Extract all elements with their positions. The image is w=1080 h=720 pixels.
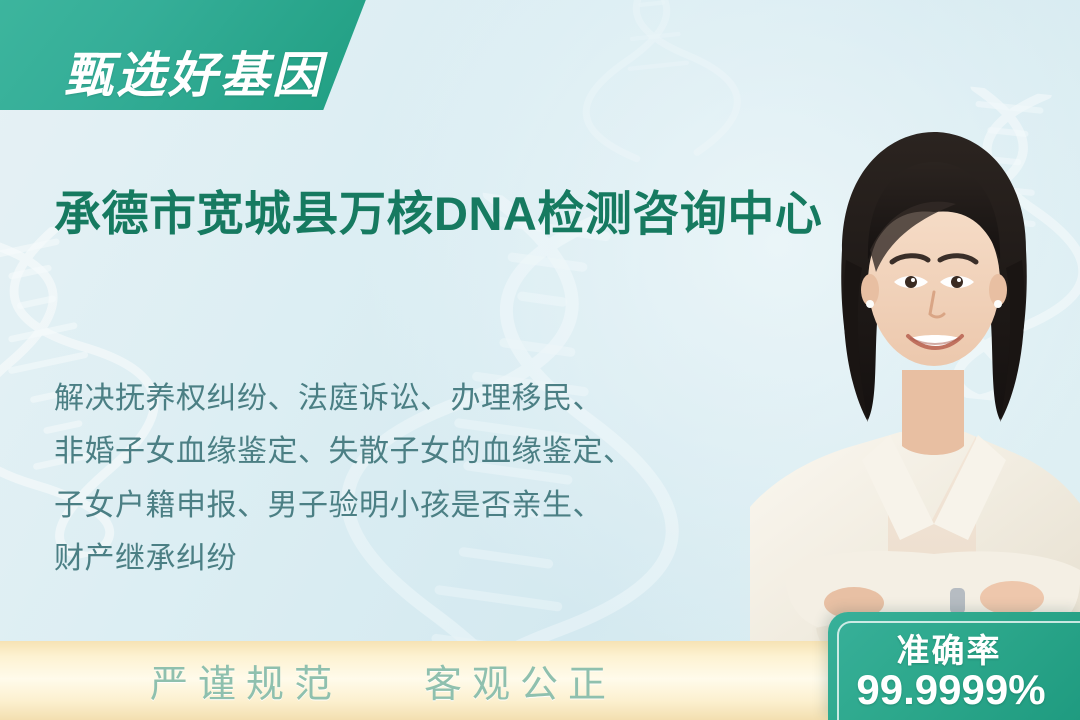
accuracy-badge-value: 99.9999%: [828, 666, 1074, 714]
accuracy-badge: 准确率 99.9999%: [828, 612, 1080, 720]
service-description: 解决抚养权纠纷、法庭诉讼、办理移民、 非婚子女血缘鉴定、失散子女的血缘鉴定、 子…: [54, 372, 754, 586]
slogan-item-1: 严谨规范: [150, 653, 342, 708]
accuracy-badge-label: 准确率: [828, 624, 1070, 672]
service-description-line: 子女户籍申报、男子验明小孩是否亲生、: [54, 479, 754, 532]
service-description-line: 非婚子女血缘鉴定、失散子女的血缘鉴定、: [54, 425, 754, 478]
promo-poster: 甄选好基因 承德市宽城县万核DNA检测咨询中心 解决抚养权纠纷、法庭诉讼、办理移…: [0, 0, 1080, 720]
brand-logo-text: 甄选好基因: [34, 16, 374, 126]
slogan-item-2: 客观公正: [424, 653, 616, 708]
service-description-line: 财产继承纠纷: [54, 532, 754, 585]
service-description-line: 解决抚养权纠纷、法庭诉讼、办理移民、: [54, 372, 754, 425]
page-title: 承德市宽城县万核DNA检测咨询中心: [54, 183, 824, 246]
